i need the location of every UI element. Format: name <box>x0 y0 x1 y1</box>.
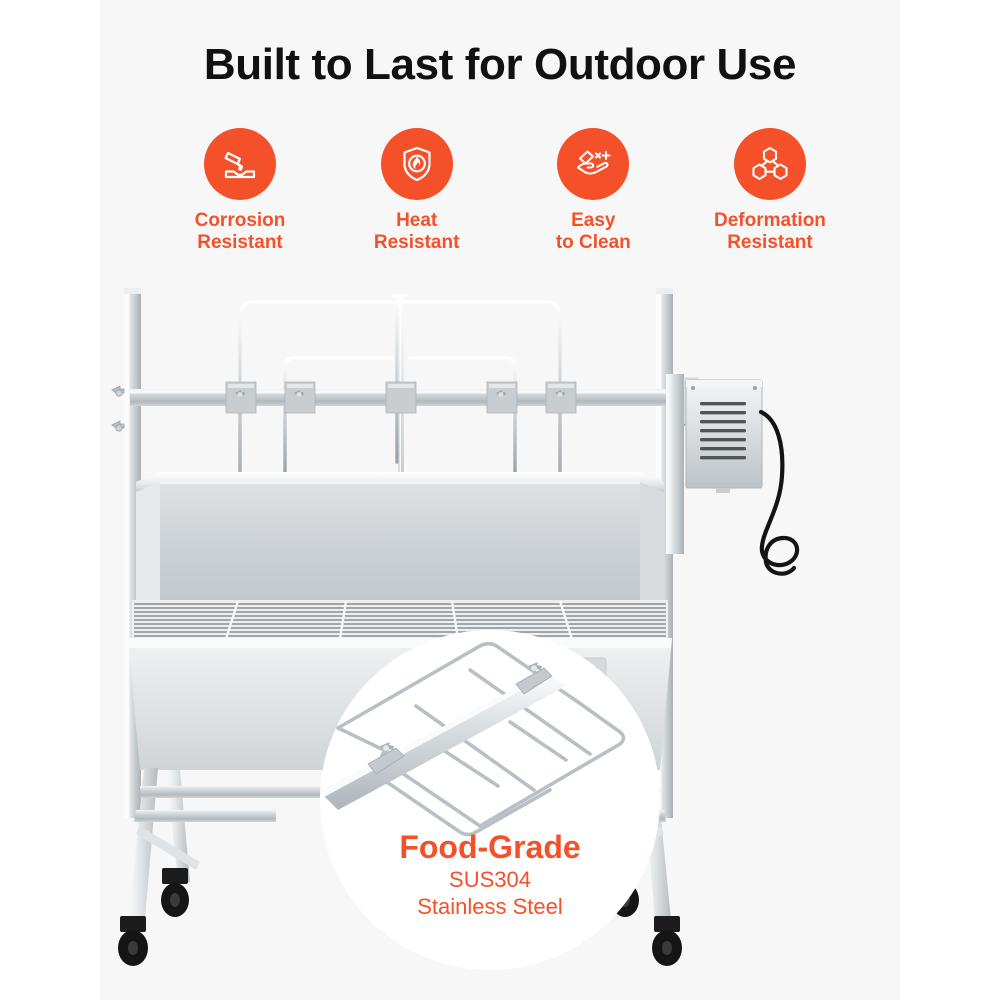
feature-item-heat-resistant: Heat Resistant <box>337 128 497 255</box>
fork-clamp-center <box>386 382 416 413</box>
leg-frame <box>128 768 672 930</box>
page-title: Built to Last for Outdoor Use <box>0 40 1000 90</box>
shield-flame-icon <box>381 128 453 200</box>
caster-wheel <box>611 868 639 917</box>
brand-plate: VEVOR <box>534 658 606 680</box>
caster-wheel <box>118 916 148 966</box>
fork-clamp <box>487 382 517 413</box>
feature-list: Corrosion Resistant Heat Resistant <box>160 128 850 268</box>
hand-cleaning-cloth-sparkle-icon <box>557 128 629 200</box>
feature-label: Easy to Clean <box>556 210 631 255</box>
fork-clamp <box>226 382 256 413</box>
adjustment-knob <box>112 386 124 431</box>
feature-item-corrosion-resistant: Corrosion Resistant <box>160 128 320 255</box>
brand-plate-label: VEVOR <box>544 662 596 677</box>
feature-item-easy-to-clean: Easy to Clean <box>513 128 673 255</box>
power-cord <box>761 412 797 574</box>
feature-label: Corrosion Resistant <box>195 210 286 255</box>
product-feature-page: Built to Last for Outdoor Use Corrosion … <box>0 0 1000 1000</box>
acid-drop-corrosion-icon <box>204 128 276 200</box>
feature-label: Deformation Resistant <box>714 210 826 255</box>
feature-item-deformation-resistant: Deformation Resistant <box>690 128 850 255</box>
grill-grate <box>132 600 668 640</box>
caster-wheel <box>161 868 189 917</box>
charcoal-pan-backwall <box>160 478 640 600</box>
hexagon-molecule-icon <box>734 128 806 200</box>
fork-clamp <box>285 382 315 413</box>
rotisserie-motor-box <box>666 374 762 554</box>
caster-wheel <box>652 916 682 966</box>
feature-label: Heat Resistant <box>374 210 460 255</box>
product-image: VEVOR <box>100 270 900 970</box>
fork-clamp <box>546 382 576 413</box>
